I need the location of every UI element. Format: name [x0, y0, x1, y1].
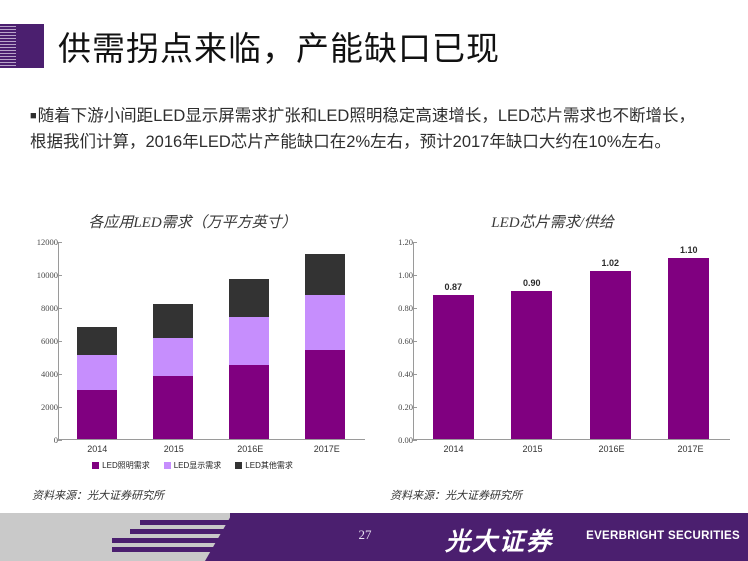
x-tick-label: 2014	[77, 444, 117, 454]
y-tick-mark	[58, 275, 62, 276]
slide-root: 供需拐点来临，产能缺口已现 ■随着下游小间距LED显示屏需求扩张和LED照明稳定…	[0, 0, 748, 561]
y-tick-mark	[413, 407, 417, 408]
brand-logo-en: EVERBRIGHT SECURITIES	[586, 530, 740, 542]
x-tick-label: 2016E	[230, 444, 270, 454]
bar-segment[interactable]	[77, 327, 117, 355]
y-tick-mark	[58, 407, 62, 408]
footer-bar-1	[140, 520, 230, 525]
bar-group[interactable]: 1.10	[668, 242, 709, 439]
bar-segment[interactable]	[511, 291, 552, 440]
y-tick-mark	[413, 275, 417, 276]
bar-group[interactable]: 1.02	[590, 242, 631, 439]
footer-bar-2	[130, 529, 235, 534]
y-tick-label: 0.80	[379, 303, 413, 313]
legend-item[interactable]: LED其他需求	[235, 460, 293, 471]
y-axis-labels-left: 020004000600080001000012000	[20, 242, 58, 440]
slide-footer: 27 光大证券 EVERBRIGHT SECURITIES	[0, 513, 748, 561]
legend-label: LED照明需求	[102, 460, 150, 471]
y-tick-mark	[58, 308, 62, 309]
bar-segment[interactable]	[153, 338, 193, 376]
y-tick-label: 12000	[24, 237, 58, 247]
bar-segment[interactable]	[77, 355, 117, 390]
page-number: 27	[345, 527, 385, 543]
x-axis-labels-right: 201420152016E2017E	[414, 440, 730, 458]
y-tick-mark	[58, 242, 62, 243]
y-tick-label: 1.00	[379, 270, 413, 280]
bullet-icon: ■	[30, 110, 37, 122]
legend-item[interactable]: LED显示需求	[164, 460, 222, 471]
y-tick-label: 2000	[24, 402, 58, 412]
chart-title-right: LED芯片需求/供给	[375, 212, 730, 234]
legend-label: LED显示需求	[174, 460, 222, 471]
y-tick-label: 4000	[24, 369, 58, 379]
x-tick-label: 2017E	[670, 444, 711, 454]
x-tick-label: 2017E	[307, 444, 347, 454]
source-note-left: 资料来源：光大证券研究所	[32, 487, 164, 503]
y-tick-mark	[413, 341, 417, 342]
bar-series-left	[59, 242, 363, 439]
bar-segment[interactable]	[153, 376, 193, 439]
y-tick-label: 0.40	[379, 369, 413, 379]
bar-segment[interactable]	[305, 350, 345, 439]
bar-group[interactable]	[305, 242, 345, 439]
legend-label: LED其他需求	[245, 460, 293, 471]
chart-plot-left: 020004000600080001000012000	[20, 242, 365, 440]
y-tick-label: 1.20	[379, 237, 413, 247]
bar-segment[interactable]	[229, 365, 269, 439]
bar-group[interactable]: 0.87	[433, 242, 474, 439]
legend-item[interactable]: LED照明需求	[92, 460, 150, 471]
bar-segment[interactable]	[77, 390, 117, 440]
chart-title-left: 各应用LED需求（万平方英寸）	[20, 212, 365, 234]
y-tick-label: 10000	[24, 270, 58, 280]
bar-segment[interactable]	[305, 254, 345, 295]
y-tick-label: 0.00	[379, 435, 413, 445]
source-note-right: 资料来源：光大证券研究所	[390, 487, 522, 503]
bar-group[interactable]	[77, 242, 117, 439]
bar-segment[interactable]	[668, 258, 709, 440]
bar-value-label: 1.10	[680, 245, 698, 255]
x-tick-label: 2015	[512, 444, 553, 454]
chart-panel-right: LED芯片需求/供给 0.000.200.400.600.801.001.20 …	[375, 212, 730, 458]
bar-series-right: 0.870.901.021.10	[414, 242, 728, 439]
bar-value-label: 1.02	[601, 258, 619, 268]
x-axis-labels-left: 201420152016E2017E	[59, 440, 365, 458]
bar-segment[interactable]	[590, 271, 631, 439]
brand-logo-cn: 光大证券	[445, 522, 553, 558]
bar-segment[interactable]	[153, 304, 193, 339]
legend-swatch-icon	[164, 462, 171, 469]
chart-plot-right: 0.000.200.400.600.801.001.20 0.870.901.0…	[375, 242, 730, 440]
y-axis-labels-right: 0.000.200.400.600.801.001.20	[375, 242, 413, 440]
body-paragraph-text: 随着下游小间距LED显示屏需求扩张和LED照明稳定高速增长，LED芯片需求也不断…	[30, 107, 695, 151]
page-title: 供需拐点来临，产能缺口已现	[58, 24, 718, 74]
x-tick-label: 2015	[154, 444, 194, 454]
title-decoration-block	[0, 24, 44, 68]
bar-segment[interactable]	[433, 295, 474, 439]
y-tick-mark	[413, 308, 417, 309]
y-tick-mark	[58, 341, 62, 342]
bar-value-label: 0.90	[523, 278, 541, 288]
chart-panel-left: 各应用LED需求（万平方英寸） 020004000600080001000012…	[20, 212, 365, 471]
chart-legend-left: LED照明需求LED显示需求LED其他需求	[20, 460, 365, 471]
bar-group[interactable]: 0.90	[511, 242, 552, 439]
body-paragraph: ■随着下游小间距LED显示屏需求扩张和LED照明稳定高速增长，LED芯片需求也不…	[30, 103, 698, 155]
y-tick-label: 6000	[24, 336, 58, 346]
legend-swatch-icon	[235, 462, 242, 469]
legend-swatch-icon	[92, 462, 99, 469]
bar-segment[interactable]	[305, 295, 345, 349]
y-tick-mark	[58, 374, 62, 375]
bar-group[interactable]	[153, 242, 193, 439]
x-tick-label: 2016E	[591, 444, 632, 454]
bar-group[interactable]	[229, 242, 269, 439]
y-tick-label: 0.60	[379, 336, 413, 346]
bar-value-label: 0.87	[444, 282, 462, 292]
bar-segment[interactable]	[229, 279, 269, 317]
y-tick-label: 0.20	[379, 402, 413, 412]
y-tick-mark	[413, 242, 417, 243]
y-tick-label: 8000	[24, 303, 58, 313]
bar-segment[interactable]	[229, 317, 269, 365]
y-tick-mark	[413, 374, 417, 375]
x-tick-label: 2014	[433, 444, 474, 454]
y-tick-label: 0	[24, 435, 58, 445]
title-decoration-stripes	[0, 24, 16, 68]
